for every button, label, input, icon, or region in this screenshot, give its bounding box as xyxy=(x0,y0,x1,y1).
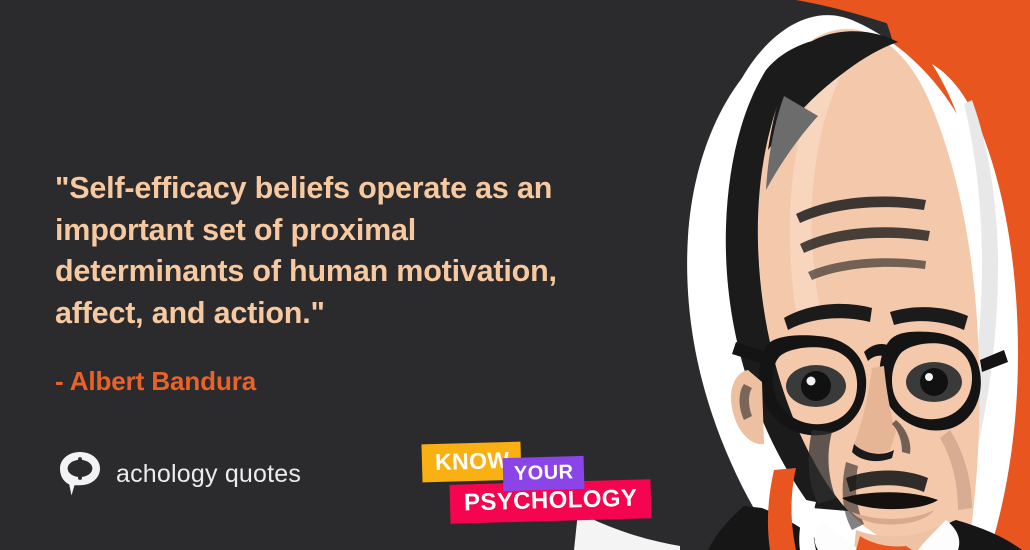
quote-block: "Self-efficacy beliefs operate as an imp… xyxy=(55,168,560,397)
quote-text: "Self-efficacy beliefs operate as an imp… xyxy=(55,168,560,334)
brand-name: achology quotes xyxy=(116,460,301,489)
quote-attribution: - Albert Bandura xyxy=(55,334,560,397)
know-your-psychology-badge[interactable]: KNOW YOUR PSYCHOLOGY xyxy=(422,440,637,520)
speech-bubble-phi-icon xyxy=(58,451,102,497)
quote-card: "Self-efficacy beliefs operate as an imp… xyxy=(0,0,1030,550)
brand-logo[interactable]: achology quotes xyxy=(58,451,301,497)
badge-your: YOUR xyxy=(503,456,585,491)
